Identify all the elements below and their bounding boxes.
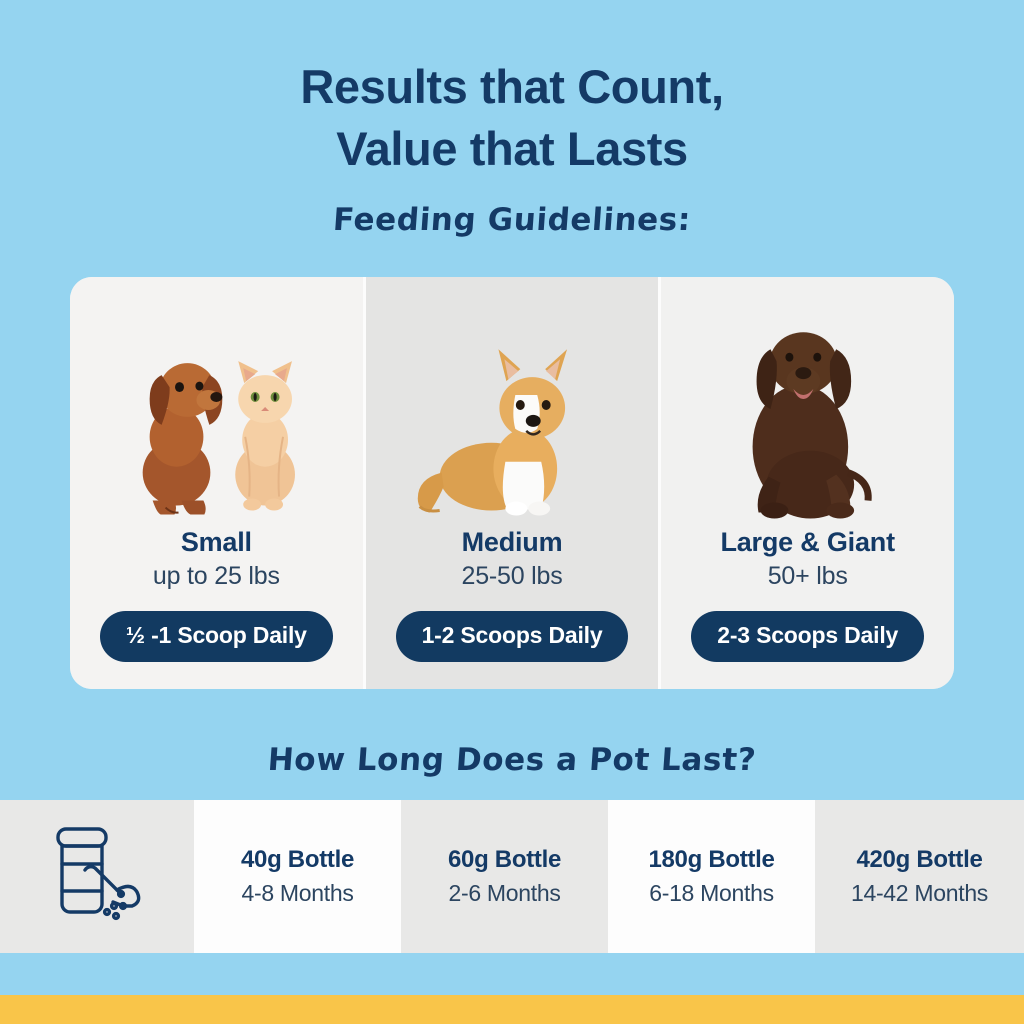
feeding-guidelines-heading: Feeding Guidelines: (0, 202, 1024, 238)
size-name: Medium (462, 527, 563, 558)
feeding-guidelines-infographic: { "headline": { "line1": "Results that C… (0, 0, 1024, 1024)
bottle-cell-40g: 40g Bottle 4-8 Months (194, 800, 401, 953)
size-name: Large & Giant (720, 527, 894, 558)
bottle-cell-420g: 420g Bottle 14-42 Months (815, 800, 1024, 953)
chocolate-labrador-photo (661, 277, 954, 525)
bottle-size: 180g Bottle (648, 846, 774, 874)
page-title-line-1: Results that Count, (0, 56, 1024, 118)
page-title-line-2: Value that Lasts (0, 118, 1024, 180)
bottle-size: 60g Bottle (448, 846, 561, 874)
size-weight: 25-50 lbs (461, 562, 562, 591)
scoop-badge: ½ -1 Scoop Daily (100, 611, 333, 662)
bottom-yellow-band (0, 995, 1024, 1024)
bottle-duration: 2-6 Months (448, 880, 560, 907)
bottle-size: 40g Bottle (241, 846, 354, 874)
jar-icon-cell (0, 800, 194, 953)
bottle-duration: 6-18 Months (649, 880, 774, 907)
dachshund-and-kitten-photo (70, 277, 363, 525)
bottle-cell-180g: 180g Bottle 6-18 Months (608, 800, 815, 953)
scoop-badge: 1-2 Scoops Daily (396, 611, 629, 662)
feeding-column-small: Small up to 25 lbs ½ -1 Scoop Daily (70, 277, 363, 689)
pot-duration-heading: How Long Does a Pot Last? (0, 742, 1024, 778)
page-title: Results that Count, Value that Lasts (0, 0, 1024, 180)
pot-duration-strip: 40g Bottle 4-8 Months 60g Bottle 2-6 Mon… (0, 800, 1024, 953)
feeding-column-medium: Medium 25-50 lbs 1-2 Scoops Daily (363, 277, 662, 689)
size-weight: up to 25 lbs (153, 562, 280, 591)
feeding-column-large-giant: Large & Giant 50+ lbs 2-3 Scoops Daily (661, 277, 954, 689)
size-name: Small (181, 527, 252, 558)
bottle-cell-60g: 60g Bottle 2-6 Months (401, 800, 608, 953)
bottle-duration: 14-42 Months (851, 880, 988, 907)
bottom-blue-band (0, 953, 1024, 995)
corgi-photo (366, 277, 659, 525)
supplement-jar-with-scoop-icon (45, 824, 149, 929)
scoop-badge: 2-3 Scoops Daily (691, 611, 924, 662)
bottle-size: 420g Bottle (856, 846, 982, 874)
feeding-guidelines-card: Small up to 25 lbs ½ -1 Scoop Daily (70, 277, 954, 689)
size-weight: 50+ lbs (768, 562, 848, 591)
bottle-duration: 4-8 Months (241, 880, 353, 907)
